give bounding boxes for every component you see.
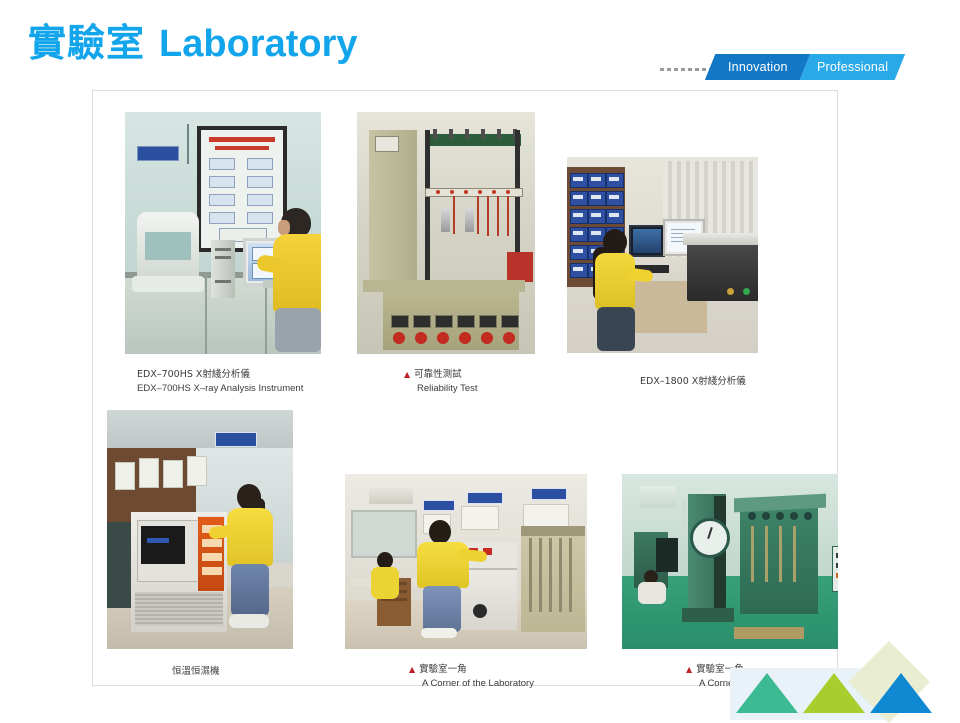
footer-decoration <box>700 640 960 720</box>
badge-professional: Professional <box>800 54 906 80</box>
photo-reliability-test <box>357 112 535 354</box>
photo-edx-1800 <box>567 157 758 353</box>
badge-banner: Innovation Professional <box>705 54 906 80</box>
red-triangle-icon: ▲ <box>686 665 692 674</box>
photo-constant-temp-humidity <box>107 410 293 649</box>
caption-edx-700hs: EDX–700HS X射綫分析儀 EDX–700HS X–ray Analysi… <box>137 368 303 397</box>
caption-edx-1800: EDX–1800 X射綫分析儀 <box>640 375 746 389</box>
caption-reliability-test-zh: ▲可靠性測試 <box>404 368 478 382</box>
caption-edx-700hs-zh: EDX–700HS X射綫分析儀 <box>137 368 303 382</box>
caption-edx-700hs-en: EDX–700HS X–ray Analysis Instrument <box>137 382 303 396</box>
badge-innovation: Innovation <box>705 54 811 80</box>
photo-lab-corner-2 <box>622 474 838 649</box>
badge-professional-label: Professional <box>817 60 888 74</box>
red-triangle-icon: ▲ <box>404 370 410 379</box>
caption-edx-1800-zh: EDX–1800 X射綫分析儀 <box>640 375 746 389</box>
page-title-zh: 實驗室 <box>28 21 145 65</box>
caption-lab-corner-1-zh: ▲實驗室一角 <box>409 663 534 677</box>
caption-reliability-test: ▲可靠性測試 Reliability Test <box>404 368 478 397</box>
photo-edx-700hs <box>125 112 321 354</box>
red-triangle-icon: ▲ <box>409 665 415 674</box>
caption-reliability-test-en: Reliability Test <box>404 382 478 396</box>
triangle-green-icon <box>803 673 865 713</box>
caption-constant-temp-humidity: 恒溫恒濕機 <box>172 665 220 679</box>
triangle-blue-icon <box>870 673 932 713</box>
caption-lab-corner-1: ▲實驗室一角 A Corner of the Laboratory <box>409 663 534 692</box>
page-title: 實驗室Laboratory <box>28 24 358 63</box>
caption-constant-temp-humidity-zh: 恒溫恒濕機 <box>172 665 220 679</box>
triangle-teal-icon <box>736 673 798 713</box>
caption-lab-corner-1-en: A Corner of the Laboratory <box>409 677 534 691</box>
photo-lab-corner-1 <box>345 474 587 649</box>
header-badge-strip: Innovation Professional <box>660 54 900 82</box>
badge-innovation-label: Innovation <box>728 60 788 74</box>
page-title-en: Laboratory <box>159 23 357 65</box>
